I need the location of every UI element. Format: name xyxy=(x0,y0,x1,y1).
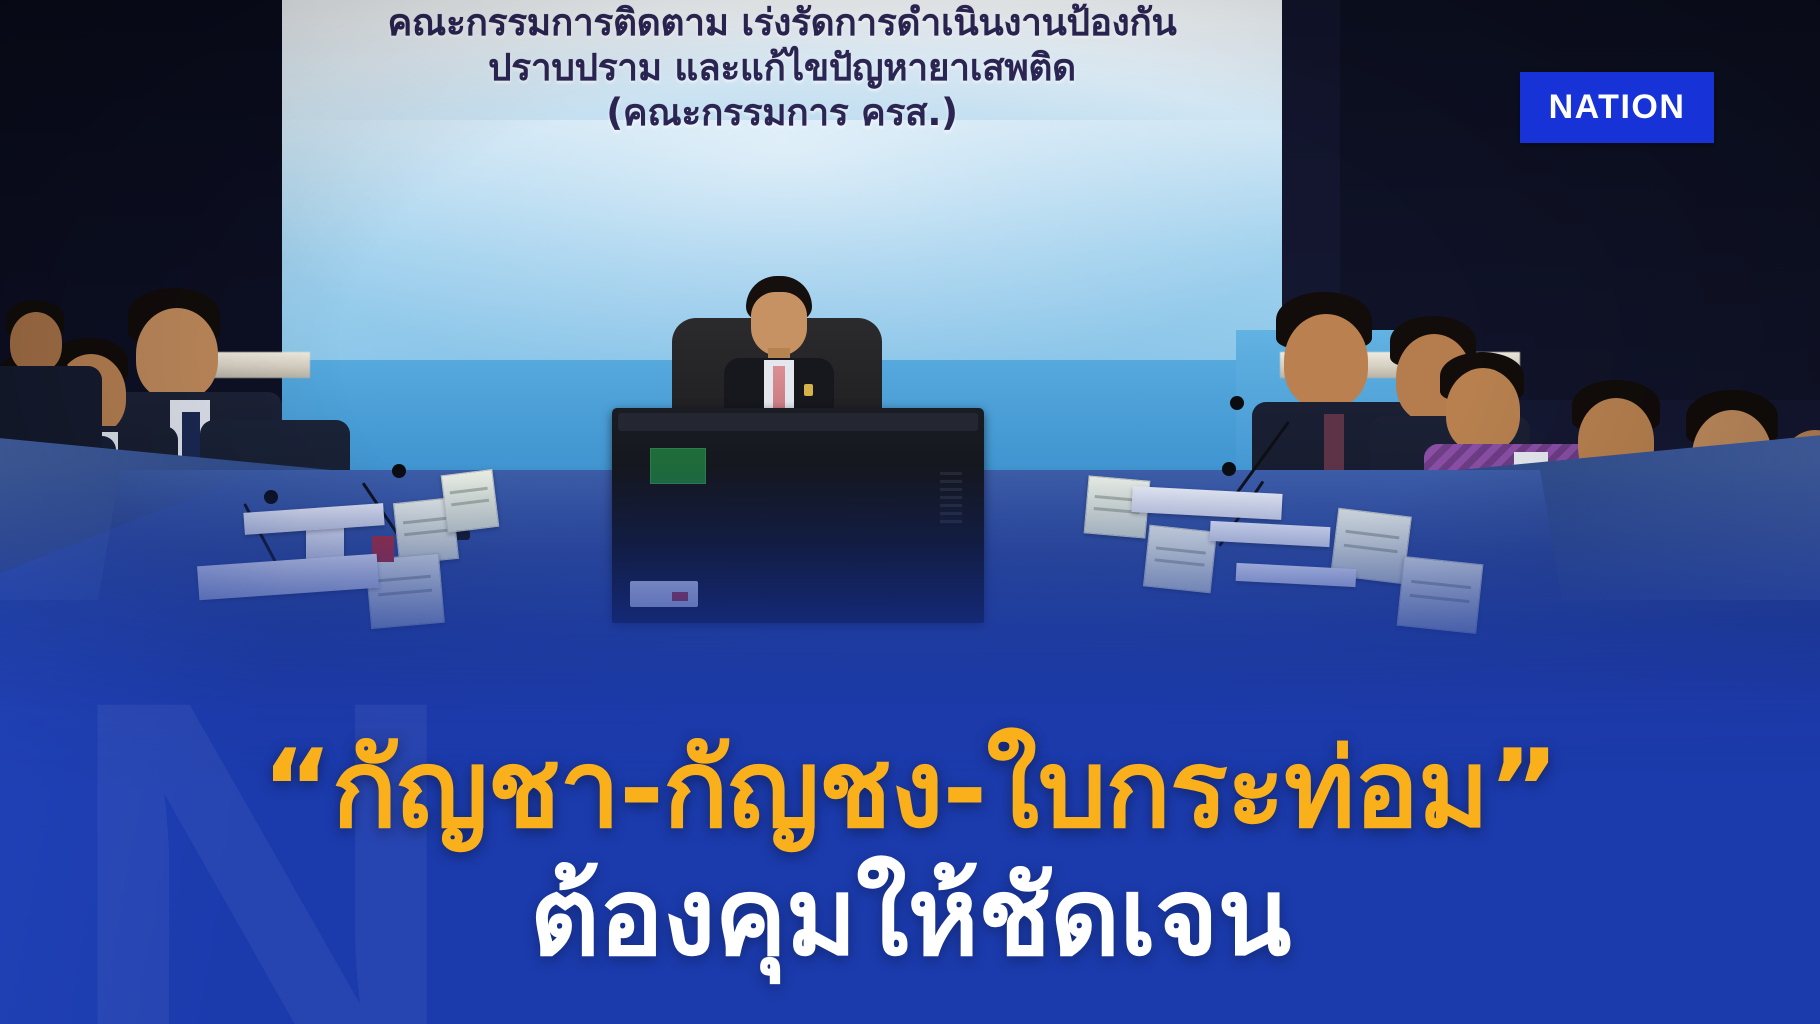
name-card-line xyxy=(451,499,489,507)
head xyxy=(10,312,62,372)
green-sticker xyxy=(650,448,706,484)
nation-logo-text: NATION xyxy=(1549,88,1686,127)
name-card xyxy=(441,469,500,533)
name-card-line xyxy=(1155,558,1205,566)
name-card xyxy=(1143,525,1217,594)
headline-line-2: ต้องคุมให้ชัดเจน xyxy=(0,855,1820,980)
backdrop-banner-text: คณะกรรมการติดตาม เร่งรัดการดำเนินงานป้อง… xyxy=(282,0,1282,135)
banner-line-3: (คณะกรรมการ ครส.) xyxy=(282,90,1282,135)
headline: “กัญชา-กัญชง-ใบกระท่อม” ต้องคุมให้ชัดเจน xyxy=(0,727,1820,980)
name-card-line xyxy=(1156,546,1206,554)
name-card-line xyxy=(378,589,433,597)
face xyxy=(751,292,807,356)
nation-logo[interactable]: NATION xyxy=(1520,72,1714,143)
head xyxy=(1446,368,1520,452)
computer-monitor xyxy=(612,408,984,623)
name-card-line xyxy=(1343,544,1398,554)
name-card-line xyxy=(377,575,432,583)
banner-line-1: คณะกรรมการติดตาม เร่งรัดการดำเนินงานป้อง… xyxy=(282,0,1282,45)
mic-head xyxy=(264,490,278,504)
mic-head xyxy=(1230,396,1244,410)
banner-line-2: ปราบปราม และแก้ไขปัญหายาเสพติด xyxy=(282,45,1282,90)
monitor-bezel xyxy=(618,413,978,431)
lapel-pin xyxy=(804,384,813,396)
monitor-red-tag xyxy=(672,592,688,601)
name-card-line xyxy=(403,517,447,525)
name-card-line xyxy=(1345,530,1400,540)
name-card-line xyxy=(1411,580,1470,589)
name-card xyxy=(1397,556,1484,634)
name-card-line xyxy=(1410,594,1469,603)
name-card-line xyxy=(450,487,488,495)
mic-head xyxy=(392,464,406,478)
monitor-vent xyxy=(940,472,962,524)
name-card-line xyxy=(404,529,448,537)
necktie xyxy=(773,366,785,414)
headline-line-1: “กัญชา-กัญชง-ใบกระท่อม” xyxy=(0,727,1820,852)
head xyxy=(1284,314,1368,408)
news-thumbnail: คณะกรรมการติดตาม เร่งรัดการดำเนินงานป้อง… xyxy=(0,0,1820,1024)
